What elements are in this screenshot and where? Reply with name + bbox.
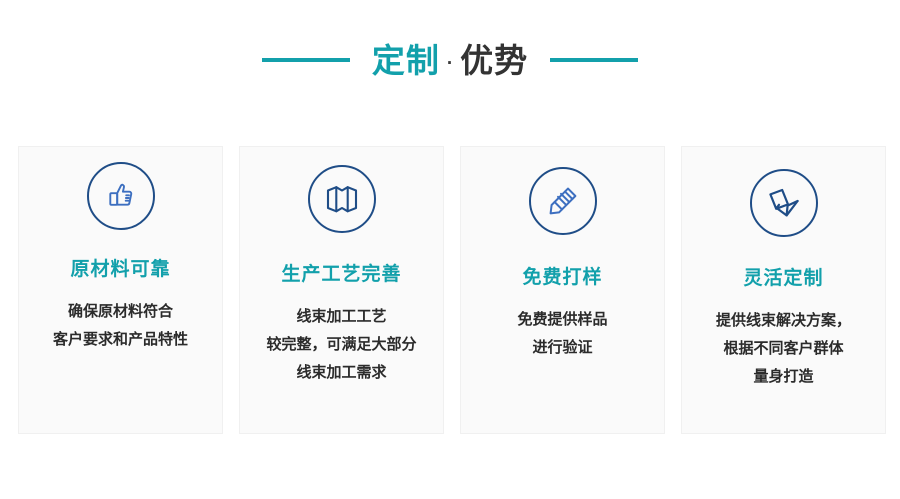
icon-circle	[87, 162, 155, 230]
feature-card-title: 免费打样	[522, 268, 602, 287]
feature-card-body: 线束加工工艺 较完整，可满足大部分 线束加工需求	[247, 303, 437, 387]
title-separator-dot: ·	[447, 54, 453, 73]
feature-card-body: 确保原材料符合 客户要求和产品特性	[26, 298, 216, 354]
feature-card-free-sample: 免费打样 免费提供样品 进行验证	[460, 146, 665, 434]
feature-card-line: 免费提供样品	[468, 306, 658, 334]
feature-card-line: 确保原材料符合	[26, 298, 216, 326]
icon-container	[85, 160, 157, 232]
folded-map-icon	[325, 184, 359, 214]
feature-card-line: 进行验证	[468, 334, 658, 362]
feature-card-line: 较完整，可满足大部分	[247, 331, 437, 359]
feature-card-flexible-customization: 灵活定制 提供线束解决方案， 根据不同客户群体 量身打造	[681, 146, 886, 434]
page-title-main: 定制	[372, 44, 440, 77]
icon-container	[527, 165, 599, 237]
feature-card-production-process: 生产工艺完善 线束加工工艺 较完整，可满足大部分 线束加工需求	[239, 146, 444, 434]
feature-card-body: 提供线束解决方案， 根据不同客户群体 量身打造	[689, 307, 879, 391]
feature-card-title: 生产工艺完善	[281, 265, 401, 284]
feature-card-title: 灵活定制	[743, 269, 823, 288]
pencil-icon	[546, 184, 580, 218]
icon-circle	[529, 167, 597, 235]
icon-circle	[308, 165, 376, 233]
title-rule-right	[550, 58, 638, 62]
feature-card-line: 量身打造	[689, 363, 879, 391]
feature-card-line: 客户要求和产品特性	[26, 326, 216, 354]
icon-container	[748, 167, 820, 239]
icon-circle	[750, 169, 818, 237]
feature-card-list: 原材料可靠 确保原材料符合 客户要求和产品特性 生产工艺完善 线束加工工艺 较完…	[18, 146, 886, 434]
page-title-alt: 优势	[460, 44, 528, 77]
icon-container	[306, 163, 378, 235]
feature-card-line: 提供线束解决方案，	[689, 307, 879, 335]
feature-card-title: 原材料可靠	[70, 260, 170, 279]
thumbs-up-icon	[104, 179, 138, 213]
feature-card-line: 线束加工工艺	[247, 303, 437, 331]
page-title: 定制 · 优势	[372, 44, 528, 77]
feature-card-line: 线束加工需求	[247, 359, 437, 387]
title-rule-left	[262, 58, 350, 62]
stacked-cards-icon	[766, 186, 802, 220]
feature-card-line: 根据不同客户群体	[689, 335, 879, 363]
feature-card-raw-material: 原材料可靠 确保原材料符合 客户要求和产品特性	[18, 146, 223, 434]
section-header: 定制 · 优势	[0, 34, 900, 86]
feature-card-body: 免费提供样品 进行验证	[468, 306, 658, 362]
